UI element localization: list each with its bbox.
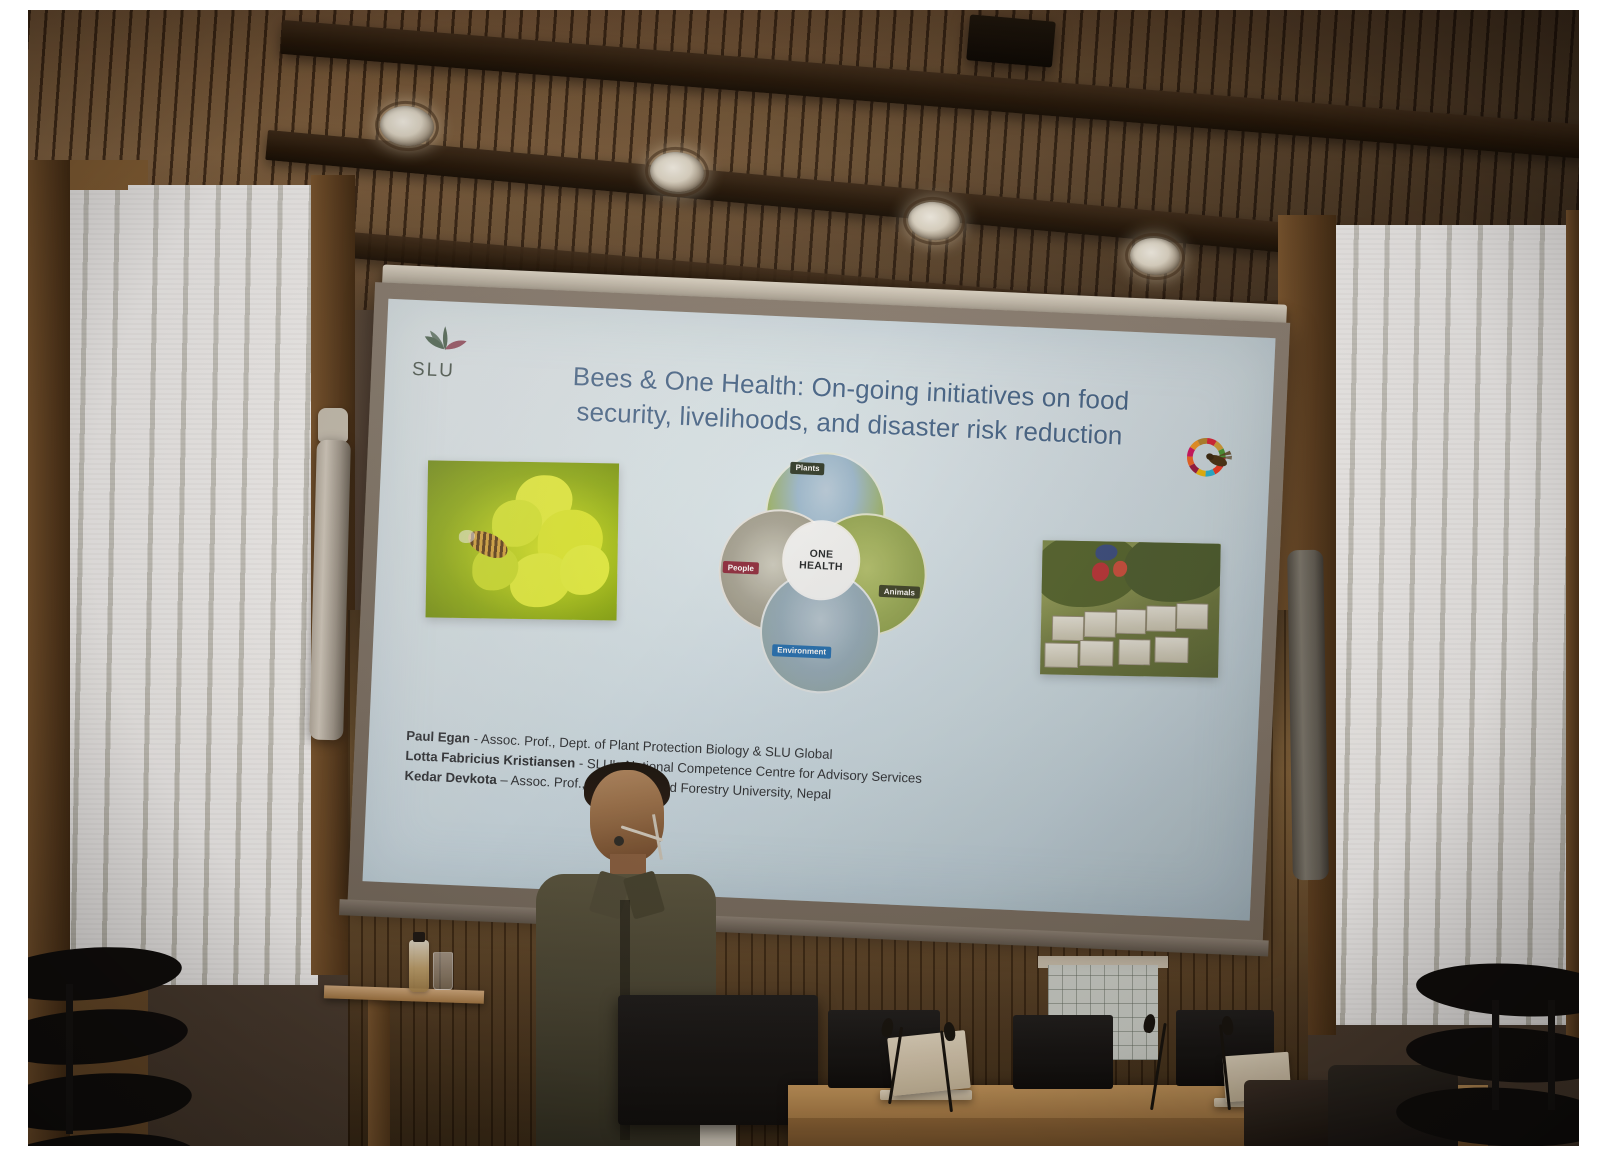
venn-label-people: People bbox=[722, 561, 759, 575]
credit-name: Paul Egan bbox=[406, 728, 470, 746]
slide-credits: Paul Egan - Assoc. Prof., Dept. of Plant… bbox=[404, 726, 1187, 821]
projection-screen: SLU bbox=[362, 299, 1275, 921]
slide-title: Bees & One Health: On-going initiatives … bbox=[525, 357, 1176, 455]
speaker-mount bbox=[318, 408, 348, 442]
chair-leg bbox=[1548, 1000, 1555, 1110]
chair-seat bbox=[28, 941, 184, 1006]
slide-image-apiary bbox=[1040, 540, 1220, 678]
projection-screen-assembly: SLU bbox=[297, 262, 1287, 994]
bag bbox=[1244, 1080, 1334, 1146]
microphone-capsule bbox=[614, 836, 624, 846]
sdg-wheel-bee-icon bbox=[1180, 427, 1241, 488]
ceiling-downlight bbox=[1128, 236, 1181, 277]
lectern-post bbox=[368, 1000, 390, 1146]
stacked-chairs-right bbox=[1396, 940, 1579, 1146]
ceiling-downlight bbox=[648, 150, 705, 195]
one-health-venn-diagram: ONE HEALTH Plants People Animals Environ… bbox=[715, 448, 928, 667]
photo-scene: SLU bbox=[0, 0, 1607, 1158]
chair-seat bbox=[28, 1067, 194, 1137]
curtain-texture bbox=[128, 185, 318, 985]
stacked-chairs-left bbox=[28, 948, 228, 1146]
conference-photograph: SLU bbox=[28, 10, 1579, 1146]
venn-label-plants: Plants bbox=[790, 461, 825, 475]
bottle-cap bbox=[413, 932, 425, 942]
ceiling-downlight bbox=[906, 200, 961, 242]
slide-image-bee-on-flower bbox=[425, 461, 618, 622]
venn-center-line-1: ONE bbox=[809, 548, 833, 561]
venn-label-environment: Environment bbox=[772, 644, 831, 659]
slu-wordmark: SLU bbox=[411, 359, 455, 383]
venn-label-animals: Animals bbox=[879, 585, 921, 599]
right-window-bay bbox=[1328, 225, 1578, 1025]
panel-monitor bbox=[1013, 1015, 1113, 1089]
wood-post bbox=[1566, 210, 1579, 1040]
venn-center-line-2: HEALTH bbox=[799, 559, 843, 573]
drinking-glass bbox=[433, 952, 453, 990]
ceiling-downlight bbox=[378, 104, 435, 149]
left-window-bay bbox=[128, 185, 318, 985]
presentation-slide: SLU bbox=[362, 299, 1275, 921]
chair-leg bbox=[1492, 1000, 1499, 1110]
credit-name: Kedar Devkota bbox=[404, 768, 497, 787]
chair-leg bbox=[66, 984, 73, 1134]
right-column-speaker bbox=[1287, 550, 1329, 881]
water-bottle bbox=[409, 940, 429, 992]
curtain-texture bbox=[1328, 225, 1578, 1025]
ceiling-projector bbox=[966, 14, 1056, 67]
chair-seat bbox=[28, 1003, 190, 1071]
